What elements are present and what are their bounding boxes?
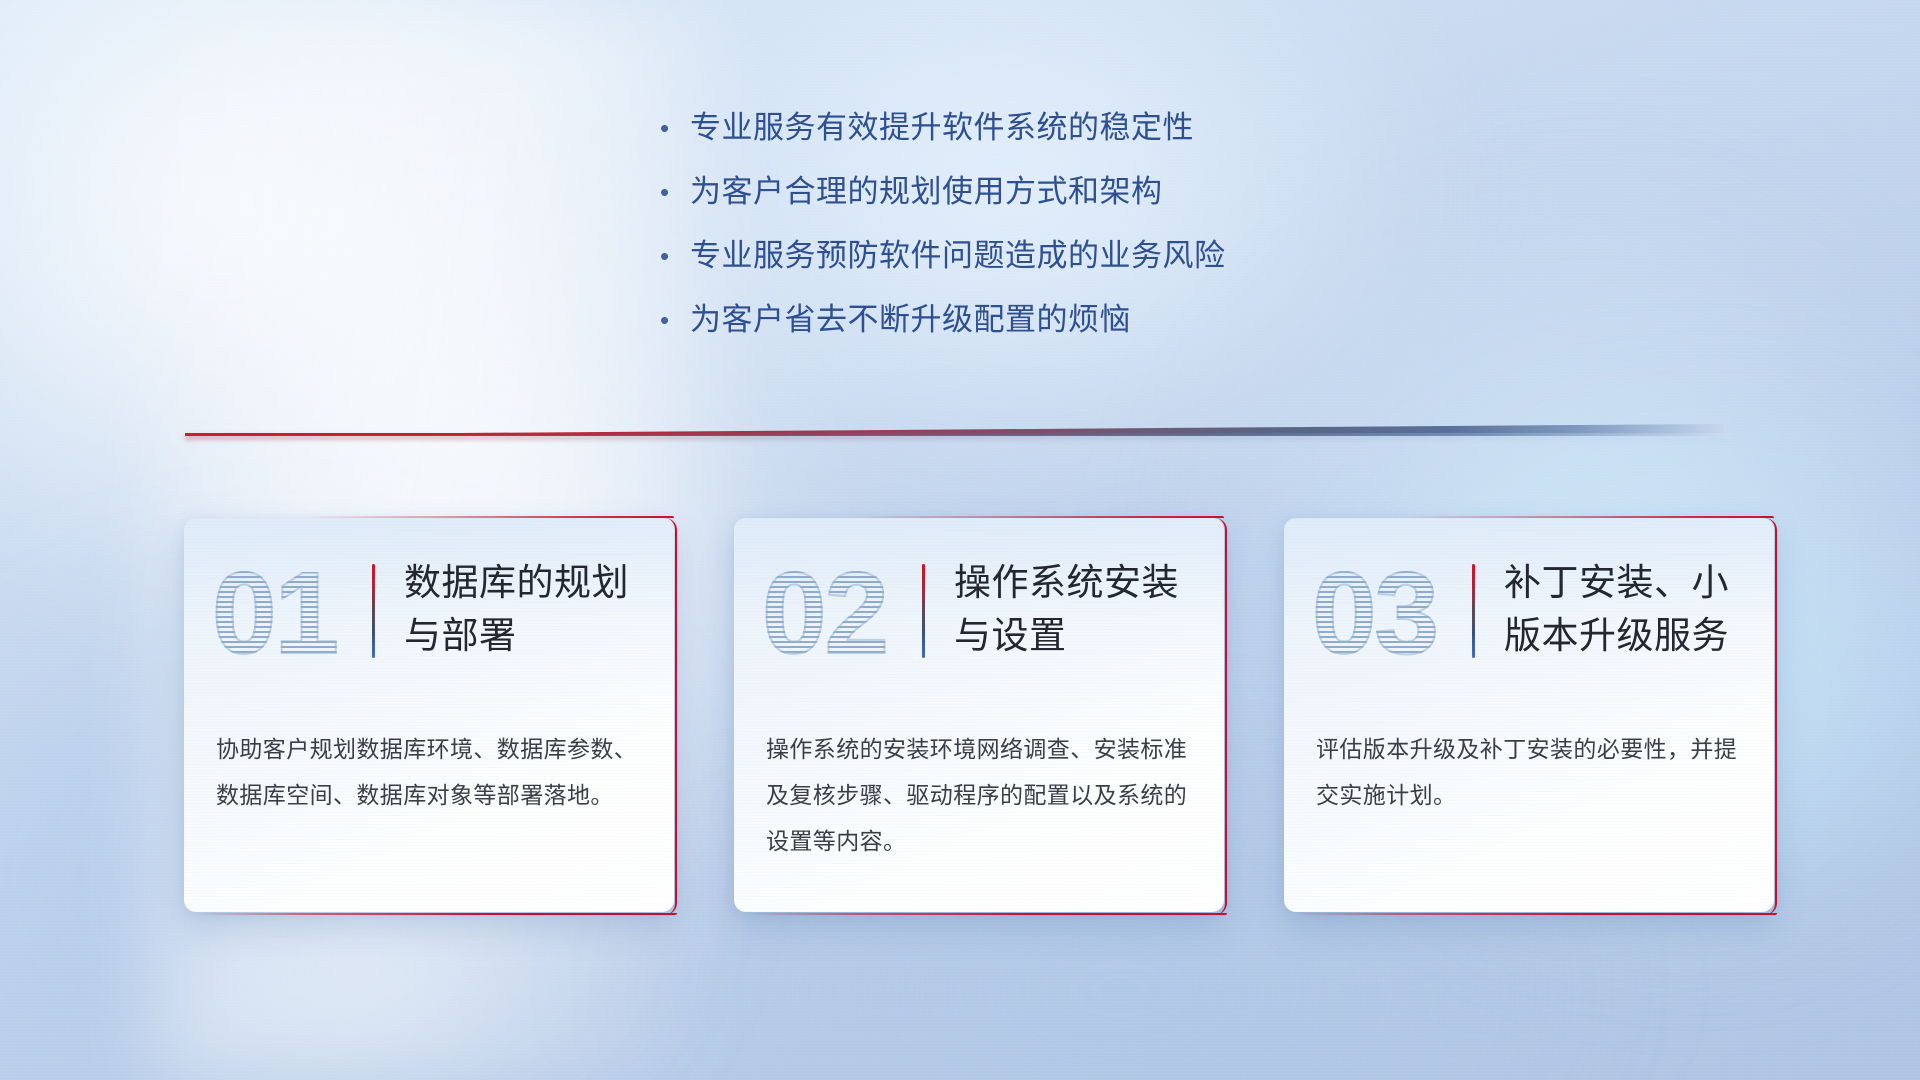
list-item: • 专业服务预防软件问题造成的业务风险: [660, 234, 1580, 298]
card-header: 03 补丁安装、小版本升级服务: [1284, 518, 1774, 718]
list-item: • 专业服务有效提升软件系统的稳定性: [660, 106, 1580, 170]
card-title-divider: [922, 564, 925, 658]
bullet-dot-icon: •: [660, 106, 690, 150]
card-index-number: 01: [212, 548, 352, 678]
bullet-text: 专业服务有效提升软件系统的稳定性: [690, 106, 1194, 150]
card-title: 数据库的规划与部署: [404, 556, 656, 662]
bullet-dot-icon: •: [660, 298, 690, 342]
bullet-text: 为客户合理的规划使用方式和架构: [690, 170, 1163, 214]
card-description: 操作系统的安装环境网络调查、安装标准及复核步骤、驱动程序的配置以及系统的设置等内…: [766, 726, 1196, 864]
card-title-divider: [1472, 564, 1475, 658]
bullet-text: 为客户省去不断升级配置的烦恼: [690, 298, 1131, 342]
list-item: • 为客户省去不断升级配置的烦恼: [660, 298, 1580, 362]
list-item: • 为客户合理的规划使用方式和架构: [660, 170, 1580, 234]
value-bullet-list: • 专业服务有效提升软件系统的稳定性 • 为客户合理的规划使用方式和架构 • 专…: [660, 106, 1580, 362]
section-divider: [185, 424, 1725, 440]
bullet-dot-icon: •: [660, 234, 690, 278]
service-card-group: 01 数据库的规划与部署 协助客户规划数据库环境、数据库参数、数据库空间、数据库…: [184, 518, 1774, 912]
card-index-number: 03: [1312, 548, 1452, 678]
card-title: 补丁安装、小版本升级服务: [1504, 556, 1756, 662]
card-title: 操作系统安装与设置: [954, 556, 1206, 662]
service-card-01[interactable]: 01 数据库的规划与部署 协助客户规划数据库环境、数据库参数、数据库空间、数据库…: [184, 518, 674, 912]
service-card-02[interactable]: 02 操作系统安装与设置 操作系统的安装环境网络调查、安装标准及复核步骤、驱动程…: [734, 518, 1224, 912]
card-title-divider: [372, 564, 375, 658]
divider-shadow: [185, 435, 1725, 440]
bullet-dot-icon: •: [660, 170, 690, 214]
card-description: 协助客户规划数据库环境、数据库参数、数据库空间、数据库对象等部署落地。: [216, 726, 646, 818]
card-header: 01 数据库的规划与部署: [184, 518, 674, 718]
bullet-text: 专业服务预防软件问题造成的业务风险: [690, 234, 1226, 278]
card-description: 评估版本升级及补丁安装的必要性，并提交实施计划。: [1316, 726, 1746, 818]
card-header: 02 操作系统安装与设置: [734, 518, 1224, 718]
service-card-03[interactable]: 03 补丁安装、小版本升级服务 评估版本升级及补丁安装的必要性，并提交实施计划。: [1284, 518, 1774, 912]
card-index-number: 02: [762, 548, 902, 678]
